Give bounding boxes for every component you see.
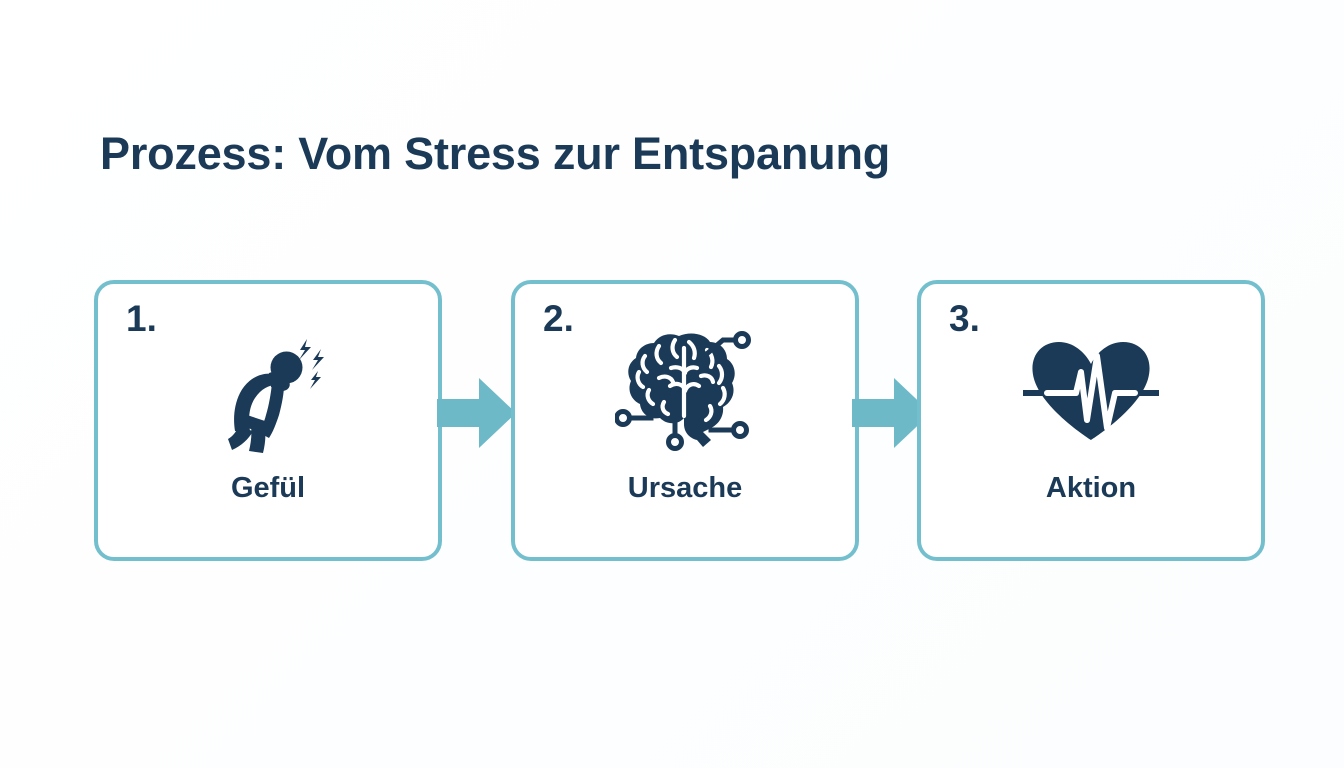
process-step-card-2[interactable]: 2. bbox=[511, 280, 859, 561]
arrow-right-icon bbox=[437, 377, 517, 449]
heart-pulse-icon bbox=[921, 324, 1261, 459]
process-step-card-1[interactable]: 1. bbox=[94, 280, 442, 561]
stressed-person-icon bbox=[98, 324, 438, 459]
process-step-card-3[interactable]: 3. Aktion bbox=[917, 280, 1265, 561]
step-label-1: Gefül bbox=[98, 472, 438, 505]
page-title: Prozess: Vom Stress zur Entspanung bbox=[100, 128, 890, 180]
step-label-3: Aktion bbox=[921, 472, 1261, 505]
slide-canvas: Prozess: Vom Stress zur Entspanung 1. bbox=[0, 0, 1344, 768]
brain-circuit-icon bbox=[515, 324, 855, 459]
step-label-2: Ursache bbox=[515, 472, 855, 505]
